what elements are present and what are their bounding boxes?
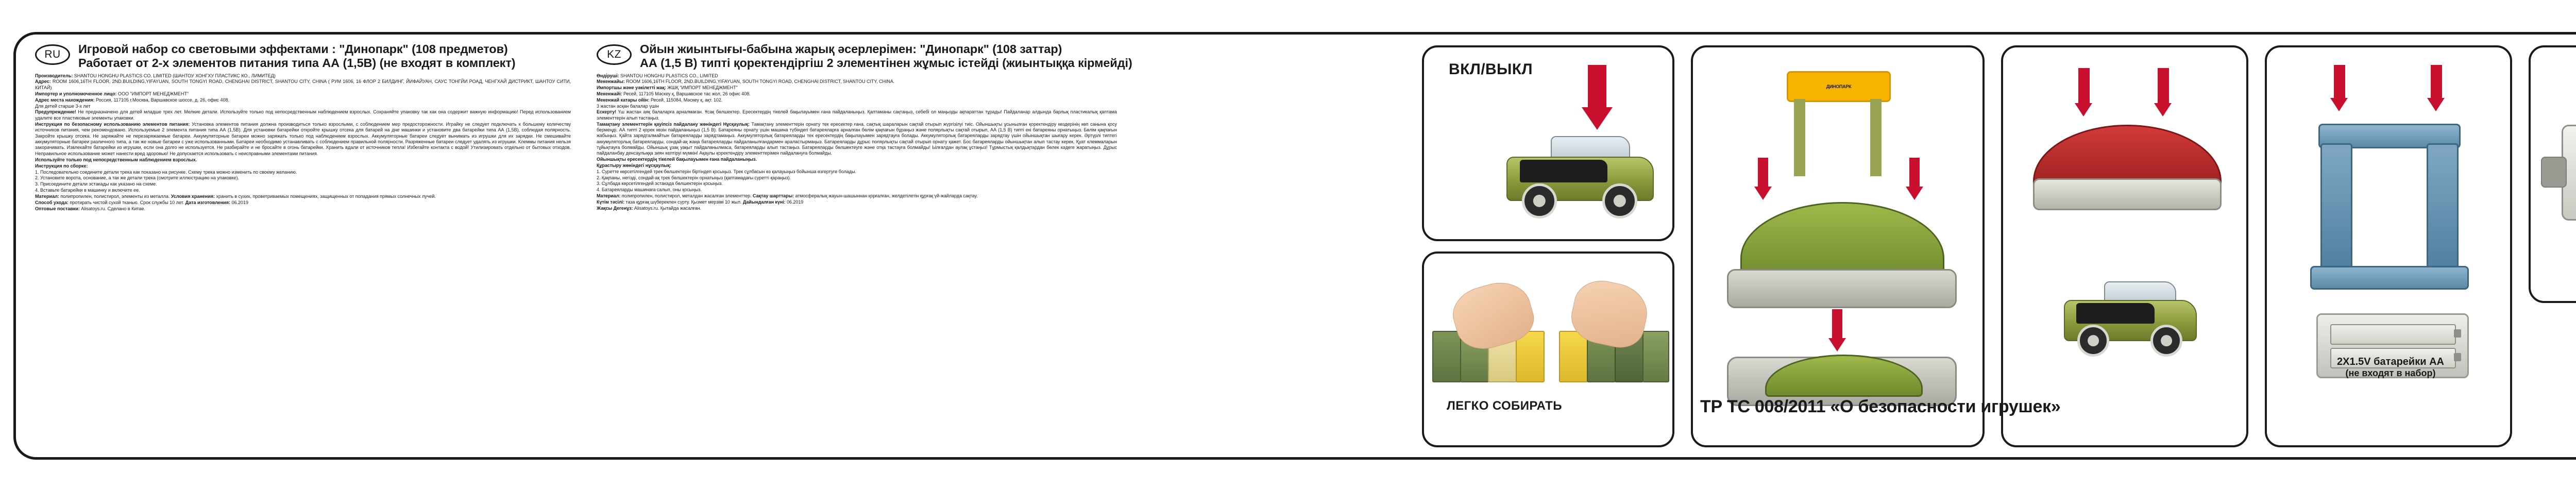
kz-storage-label: Сақтау шарттары: [753,193,794,198]
kz-battery-title: АА (1,5 В) типті қоректендіргіш 2 элемен… [640,56,1132,70]
stand-leg-right [2427,143,2459,275]
arrow-shaft [2158,68,2169,104]
panel-motor-unit [2529,45,2576,303]
motor-illustration [2531,47,2576,301]
kz-manufacturer-label: Өндіруші: [597,73,619,78]
ru-date-value: 06.2019 [231,200,248,205]
kz-storage-value: атмосфералық жауын-шашыннан қорғалған, ж… [795,193,978,198]
ru-importer-label: Импортер и уполномоченное лицо: [35,91,116,96]
kz-manufacturer-value: SHANTOU HONGHU PLASTICS CO., LIMITED [620,73,718,78]
ru-conditions-value: хранить в сухих, проветриваемых помещени… [216,194,435,199]
track-illustration [2003,47,2246,445]
arrow-shaft [2078,68,2090,104]
arrow-head-down-icon [1906,187,1923,200]
panel-on-off: ВКЛ/ВЫКЛ [1422,45,1674,241]
panel-track-piece [2001,45,2248,447]
ru-assembly-step-2: 2. Установите ворота, основание, а так ж… [35,175,571,181]
panel-easy-assembly: ЛЕГКО СОБИРАТЬ [1422,251,1674,447]
dino-gate-illustration: ДИНОПАРК [1693,47,1982,445]
battery-caption-line2: (не входят в набор) [2267,368,2514,379]
panel-support-stand [2265,45,2512,447]
ru-body-text: Производитель: SHANTOU HONGHU PLASTICS C… [35,73,571,212]
ru-manufacturer-label: Производитель: [35,73,73,78]
ru-date-label: Дата изготовления: [185,200,230,205]
ru-conditions-label: Условия хранения: [171,194,215,199]
ru-supplier-value: Alisatoys.ru. Сделано в Китае. [81,206,145,211]
arrow-head-down-icon [2154,103,2172,116]
arrow-shaft [2431,65,2442,99]
kz-warning-label: Ескерту! [597,109,616,114]
kz-supplier-value: Alisatoys.ru. Қытайда жасалған. [634,206,701,211]
kz-body-text: Өндіруші: SHANTOU HONGHU PLASTICS CO., L… [597,73,1117,212]
ru-material-value: полипропилен, полистирол, элементы из ме… [60,194,170,199]
kz-assembly-step-3: 3. Сұлбада көрсетілгендей эстакада бөлше… [597,181,1117,187]
ru-warning-value: Не предназначено для детей младше трех л… [35,109,571,120]
car-wheel-rear [2150,325,2182,357]
ru-address-value: ROOM 1606,16TH FLOOR, 2ND.BUILDING,YIFAY… [35,79,571,90]
ru-care-label: Способ ухода: [35,200,69,205]
kz-material-value: полипропилен, полистирол, металдан жасал… [622,193,752,198]
car-wheel-front [2077,325,2109,357]
ru-care-value: протирать чистой сухой тканью. Срок служ… [70,200,184,205]
kz-care-value: таза құрғақ шүберекпен сүрту. Қызмет мер… [626,199,742,205]
kz-header: KZ Ойын жиынтығы-бабына жарық әсерлеріме… [597,42,1117,71]
kz-location-label: Мекенжайі: [597,91,622,96]
motor-connector [2541,157,2567,188]
track-brick [1432,331,1461,382]
battery-caption: 2X1.5V батарейки АА (не входят в набор) [2267,356,2514,379]
kz-importer-label: Импортшы және уәкілетті жақ: [597,85,666,90]
arrow-head-down-icon [1582,107,1613,130]
ru-manufacturer-value: SHANTOU HONGHU PLASTICS CO. LIMITED (ШАН… [74,73,276,78]
ru-assembly-step-3: 3. Присоедините детали эстакады как указ… [35,181,571,187]
ru-language-badge: RU [35,44,70,65]
russian-text-column: RU Игровой набор со световыми эффектами … [35,42,571,449]
kz-date-value: 06.2019 [787,199,803,205]
ru-address-label: Адрес: [35,79,51,84]
ru-header: RU Игровой набор со световыми эффектами … [35,42,571,71]
easy-assembly-caption: ЛЕГКО СОБИРАТЬ [1447,399,1562,413]
kz-age-label: 3 жастан асқан балалар үшін [597,104,1117,109]
compliance-statement: ТР ТС 008/2011 «О безопасности игрушек» [1700,397,2576,417]
arrow-head-down-icon [2427,98,2445,111]
kz-location-value: Ресей, 117105 Мәскеу қ, Варшавское тас ж… [623,91,751,96]
arrow-shaft [1832,309,1842,339]
kz-legal-value: Ресей, 115084, Мәскеу қ, ақт. 102. [651,97,722,103]
ru-safety-label: Инструкция по безопасному использованию … [35,122,190,127]
kz-supplier-label: Жақсы Дегенұз: [597,206,633,211]
kz-material-label: Материал: [597,193,620,198]
arrow-shaft [2334,65,2345,99]
kz-safety-label: Тамақтану элементтерін қауіпсіз пайдалан… [597,122,750,127]
ru-importer-address-label: Адрес места нахождения: [35,97,95,103]
track-brick [1559,331,1588,382]
kz-assembly-step-2: 2. Қақпаны, негізді, сондай-ақ трек бөлш… [597,175,1117,181]
kz-care-label: Күтім тәсілі: [597,199,624,205]
car-wheel-rear [1602,183,1637,219]
dinopark-sign-text: ДИНОПАРК [1826,84,1851,89]
ru-assembly-label: Инструкция по сборке: [35,163,88,169]
kazakh-text-column: KZ Ойын жиынтығы-бабына жарық әсерлеріме… [597,42,1117,449]
battery-terminal-1 [2454,329,2461,338]
ru-importer-address-value: Россия, 117105 г.Москва, Варшавское шосс… [96,97,229,103]
arrow-shaft [1588,65,1606,108]
ru-product-title: Игровой набор со световыми эффектами : "… [78,42,571,56]
ru-importer-value: ООО "ИМПОРТ МЕНЕДЖМЕНТ" [118,91,189,96]
arrow-shaft [1909,158,1920,188]
toy-car [1501,134,1656,222]
ru-supplier-label: Оптовые поставки: [35,206,80,211]
stand-foot [2310,266,2469,290]
kz-warning-value: Үш жастан аяқ балаларға арналмаған. Ұсақ… [597,109,1117,120]
kz-assembly-step-1: 1. Суретте көрсетілгендей трек бөлшектер… [597,169,1117,175]
dinopark-sign: ДИНОПАРК [1787,71,1891,102]
ru-assembly-step-4: 4. Вставьте батарейки в машинку и включи… [35,188,571,193]
support-stand-illustration [2267,47,2510,445]
kz-supervision: Ойыншықты ересектердің тікелей бақылауым… [597,157,757,162]
kz-importer-value: ЖШҚ "ИМПОРТ МЕНЕДЖМЕНТ" [667,85,737,90]
battery-caption-line1: 2X1.5V батарейки АА [2267,356,2514,368]
packaging-label: RU Игровой набор со световыми эффектами … [0,0,2576,487]
ru-battery-title: Работает от 2-х элементов питания типа А… [78,56,571,70]
sign-post-right [1870,99,1882,176]
ru-supervision: Используйте только под непосредственным … [35,157,197,162]
ru-warning-label: Предупреждение! [35,109,76,114]
base-plate [1727,269,1957,308]
arrow-head-down-icon [1754,187,1772,200]
stand-leg-left [2320,143,2352,275]
kz-legal-label: Мекенжай катары ойін: [597,97,650,103]
ru-age-label: Для детей старше 3-х лет [35,104,571,109]
arrow-shaft [1758,158,1768,188]
kz-assembly-step-4: 4. Батареяларды машинаға салып, оны қосы… [597,187,1117,193]
kz-product-title: Ойын жиынтығы-бабына жарық әсерлерімен: … [640,42,1132,56]
toy-car-on-track [2060,279,2199,362]
track-brick [1642,331,1669,382]
kz-date-label: Дайындалған күні: [743,199,786,205]
track-base-grey [2033,178,2222,210]
ru-material-label: Материал: [35,194,59,199]
kz-address-value: ROOM 1606,16TH FLOOR, 2ND.BUILDING,YIFAY… [626,79,894,84]
arrow-head-down-icon [2075,103,2092,116]
battery-cell-1 [2330,324,2456,345]
kz-assembly-label: Құрастыру жөніндегі нұсқаулық: [597,163,671,168]
sign-post-left [1794,99,1805,176]
ru-assembly-step-1: 1. Последовательно соедините детали трек… [35,170,571,175]
car-window [1520,160,1607,182]
on-off-illustration [1424,47,1672,239]
arrow-head-down-icon [2330,98,2348,111]
kz-address-label: Мекенжайы: [597,79,625,84]
car-window [2076,303,2155,324]
easy-assembly-illustration [1424,254,1672,445]
arrow-head-down-icon [1828,338,1846,351]
car-wheel-front [1522,183,1557,219]
kz-language-badge: KZ [597,44,632,65]
panel-dino-gate: ДИНОПАРК [1691,45,1985,447]
